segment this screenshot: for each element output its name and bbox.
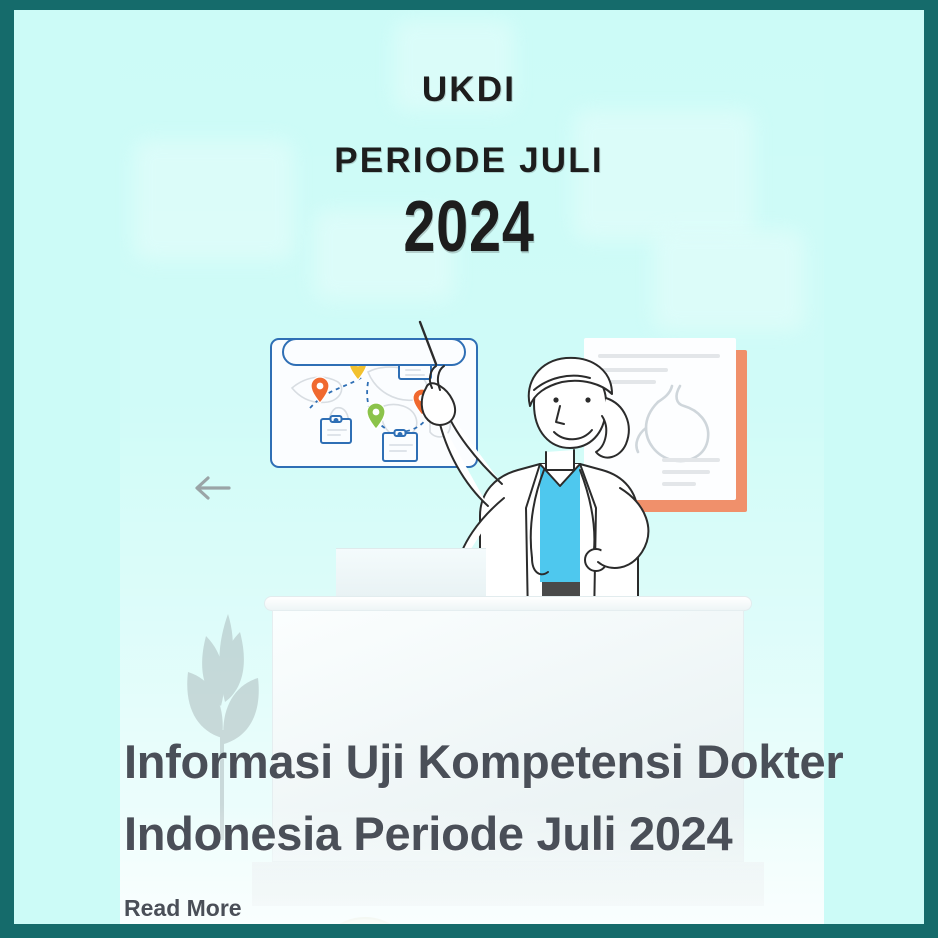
- arrow-left-icon: [193, 475, 233, 501]
- podium-top: [264, 596, 752, 611]
- banner-line-2: PERIODE JULI: [14, 143, 924, 178]
- map-pin-orange-1: [310, 376, 330, 404]
- banner-heading: UKDI PERIODE JULI 2024: [14, 72, 924, 266]
- slide-overlay: Informasi Uji Kompetensi Dokter Indonesi…: [124, 726, 844, 924]
- slide-frame: UKDI PERIODE JULI 2024: [0, 0, 938, 938]
- banner-year: 2024: [105, 190, 833, 266]
- slide-surface: UKDI PERIODE JULI 2024: [14, 10, 924, 924]
- map-pin-green: [366, 402, 386, 430]
- board-note: [320, 418, 352, 444]
- podium-riser: [336, 548, 486, 598]
- banner-line-1: UKDI: [14, 72, 924, 107]
- carousel-prev-button[interactable]: [190, 465, 236, 511]
- slide-title: Informasi Uji Kompetensi Dokter Indonesi…: [124, 726, 844, 869]
- read-more-link[interactable]: Read More: [124, 895, 844, 924]
- note-dot: [334, 418, 339, 423]
